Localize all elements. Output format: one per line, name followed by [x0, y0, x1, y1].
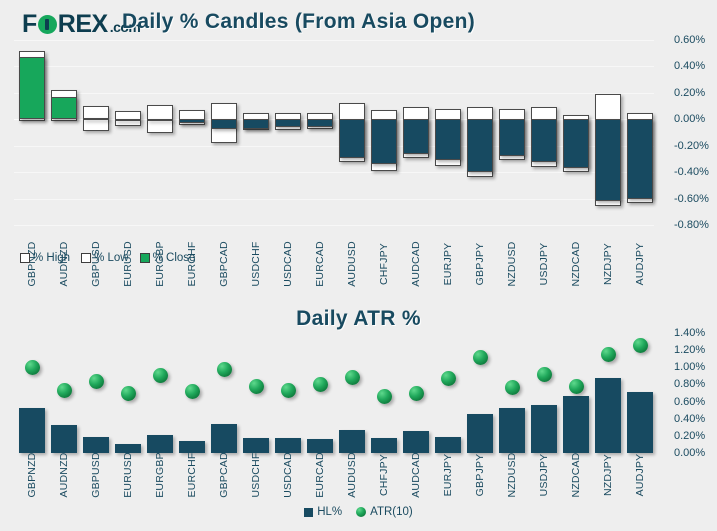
- candle-close-body: [307, 119, 333, 127]
- candles-y-tick-label: 0.20%: [674, 87, 717, 99]
- atr-x-tick-label: EURCAD: [314, 445, 326, 505]
- atr-x-tick-label: NZDCAD: [570, 445, 582, 505]
- candle-column: [563, 40, 589, 225]
- candle-close-body: [147, 119, 173, 121]
- legend-item: ATR(10): [356, 506, 413, 518]
- atr-x-tick-label: GBPJPY: [474, 445, 486, 505]
- candle-close-body: [211, 119, 237, 128]
- candle-close-body: [627, 119, 653, 198]
- candle-column: [595, 40, 621, 225]
- candles-y-tick-label: 0.40%: [674, 60, 717, 72]
- candles-y-tick-label: 0.60%: [674, 34, 717, 46]
- candles-gridline: [14, 66, 654, 67]
- candles-y-tick-label: -0.40%: [674, 166, 717, 178]
- atr-marker-dot: [633, 338, 648, 353]
- candles-gridline: [14, 172, 654, 173]
- legend-label: % Low: [94, 252, 129, 264]
- atr-marker-dot: [473, 350, 488, 365]
- candle-close-body: [83, 118, 109, 120]
- candle-close-body: [339, 119, 365, 157]
- candles-x-tick-label: EURJPY: [442, 234, 454, 294]
- candle-column: [275, 40, 301, 225]
- candles-x-tick-label: EURGBP: [154, 234, 166, 294]
- candle-column: [147, 40, 173, 225]
- candles-x-tick-label: USDCHF: [250, 234, 262, 294]
- candle-close-body: [243, 119, 269, 128]
- candles-y-tick-label: -0.20%: [674, 140, 717, 152]
- candles-x-tick-label: AUDJPY: [634, 234, 646, 294]
- atr-y-tick-label: 1.20%: [674, 344, 717, 356]
- candle-close-body: [179, 119, 205, 123]
- candle-close-body: [115, 119, 141, 121]
- candles-x-tick-label: GBPCAD: [218, 234, 230, 294]
- atr-y-tick-label: 0.80%: [674, 378, 717, 390]
- candles-chart-panel: 0.60%0.40%0.20%0.00%-0.20%-0.40%-0.60%-0…: [0, 40, 717, 295]
- candles-plot-area: 0.60%0.40%0.20%0.00%-0.20%-0.40%-0.60%-0…: [14, 40, 654, 225]
- atr-marker-dot: [121, 386, 136, 401]
- candle-column: [435, 40, 461, 225]
- atr-marker-dot: [409, 386, 424, 401]
- candles-chart-title: Daily % Candles (From Asia Open): [0, 10, 657, 34]
- atr-y-tick-label: 0.20%: [674, 430, 717, 442]
- legend-swatch-icon: [140, 253, 150, 263]
- atr-marker-dot: [345, 370, 360, 385]
- atr-legend: HL%ATR(10): [0, 506, 717, 518]
- legend-label: ATR(10): [370, 506, 413, 518]
- atr-chart-panel: 1.40%1.20%1.00%0.80%0.60%0.40%0.20%0.00%…: [0, 333, 717, 531]
- candles-x-tick-label: AUDNZD: [58, 234, 70, 294]
- atr-x-tick-label: NZDUSD: [506, 445, 518, 505]
- atr-x-tick-label: USDJPY: [538, 445, 550, 505]
- atr-x-tick-label: EURCHF: [186, 445, 198, 505]
- candles-x-tick-label: GBPUSD: [90, 234, 102, 294]
- candle-close-body: [51, 97, 77, 119]
- atr-marker-dot: [89, 374, 104, 389]
- atr-x-tick-label: AUDUSD: [346, 445, 358, 505]
- atr-x-tick-label: EURUSD: [122, 445, 134, 505]
- candles-x-tick-label: AUDUSD: [346, 234, 358, 294]
- candle-column: [627, 40, 653, 225]
- candles-zero-line: [14, 119, 654, 120]
- candle-close-body: [403, 119, 429, 153]
- candle-close-body: [371, 119, 397, 164]
- atr-marker-dot: [505, 380, 520, 395]
- candle-column: [19, 40, 45, 225]
- atr-x-tick-label: NZDJPY: [602, 445, 614, 505]
- candle-column: [403, 40, 429, 225]
- legend-swatch-icon: [20, 253, 30, 263]
- candle-column: [467, 40, 493, 225]
- atr-hl-bar: [627, 392, 653, 453]
- candle-column: [531, 40, 557, 225]
- atr-marker-dot: [249, 379, 264, 394]
- candle-column: [243, 40, 269, 225]
- legend-item: % Low: [81, 252, 129, 264]
- candles-x-tick-label: NZDUSD: [506, 234, 518, 294]
- candles-x-tick-label: GBPJPY: [474, 234, 486, 294]
- candle-column: [83, 40, 109, 225]
- candles-gridline: [14, 40, 654, 41]
- legend-item: % High: [20, 252, 70, 264]
- candles-x-tick-label: NZDCAD: [570, 234, 582, 294]
- candles-x-tick-label: GBPNZD: [26, 234, 38, 294]
- candles-gridline: [14, 93, 654, 94]
- atr-y-tick-label: 0.40%: [674, 413, 717, 425]
- candle-close-body: [435, 119, 461, 160]
- atr-x-tick-label: AUDCAD: [410, 445, 422, 505]
- candle-column: [51, 40, 77, 225]
- candle-column: [307, 40, 333, 225]
- atr-y-tick-label: 1.40%: [674, 327, 717, 339]
- candle-close-body: [531, 119, 557, 161]
- candles-x-tick-label: EURCHF: [186, 234, 198, 294]
- candles-gridline: [14, 199, 654, 200]
- candles-y-tick-label: 0.00%: [674, 113, 717, 125]
- candle-column: [211, 40, 237, 225]
- legend-label: % Close: [153, 252, 196, 264]
- candles-y-tick-label: -0.60%: [674, 193, 717, 205]
- legend-item: % Close: [140, 252, 196, 264]
- atr-x-tick-label: GBPUSD: [90, 445, 102, 505]
- candles-x-tick-label: EURUSD: [122, 234, 134, 294]
- atr-marker-dot: [313, 377, 328, 392]
- candles-x-tick-label: AUDCAD: [410, 234, 422, 294]
- atr-marker-dot: [185, 384, 200, 399]
- legend-item: HL%: [304, 506, 342, 518]
- atr-hl-bar: [595, 378, 621, 453]
- atr-marker-dot: [25, 360, 40, 375]
- candles-legend: % High% Low% Close: [20, 252, 195, 264]
- atr-marker-dot: [601, 347, 616, 362]
- candles-x-tick-label: NZDJPY: [602, 234, 614, 294]
- atr-x-tick-label: GBPNZD: [26, 445, 38, 505]
- atr-x-tick-label: EURGBP: [154, 445, 166, 505]
- candles-x-tick-label: CHFJPY: [378, 234, 390, 294]
- legend-label: HL%: [317, 506, 342, 518]
- atr-marker-dot: [441, 371, 456, 386]
- atr-x-tick-label: EURJPY: [442, 445, 454, 505]
- atr-marker-dot: [217, 362, 232, 377]
- candle-close-body: [563, 119, 589, 168]
- atr-plot-area: 1.40%1.20%1.00%0.80%0.60%0.40%0.20%0.00%: [14, 333, 654, 453]
- atr-x-tick-label: CHFJPY: [378, 445, 390, 505]
- candle-close-body: [467, 119, 493, 172]
- atr-x-tick-label: GBPCAD: [218, 445, 230, 505]
- atr-x-tick-label: AUDJPY: [634, 445, 646, 505]
- atr-marker-dot: [281, 383, 296, 398]
- candle-column: [499, 40, 525, 225]
- legend-swatch-icon: [81, 253, 91, 263]
- atr-x-tick-label: USDCAD: [282, 445, 294, 505]
- candle-close-body: [19, 57, 45, 119]
- atr-marker-dot: [153, 368, 168, 383]
- candle-close-body: [499, 119, 525, 156]
- candle-column: [179, 40, 205, 225]
- candles-y-tick-label: -0.80%: [674, 219, 717, 231]
- atr-marker-dot: [569, 379, 584, 394]
- atr-marker-dot: [57, 383, 72, 398]
- atr-chart-title: Daily ATR %: [0, 307, 717, 331]
- candle-column: [339, 40, 365, 225]
- candle-column: [115, 40, 141, 225]
- legend-square-icon: [304, 508, 313, 517]
- atr-x-tick-label: USDCHF: [250, 445, 262, 505]
- candles-gridline: [14, 225, 654, 226]
- atr-x-tick-label: AUDNZD: [58, 445, 70, 505]
- legend-sphere-icon: [356, 507, 366, 517]
- atr-marker-dot: [377, 389, 392, 404]
- atr-y-tick-label: 1.00%: [674, 361, 717, 373]
- atr-marker-dot: [537, 367, 552, 382]
- legend-label: % High: [33, 252, 70, 264]
- candles-x-tick-label: USDJPY: [538, 234, 550, 294]
- candles-x-tick-label: USDCAD: [282, 234, 294, 294]
- atr-y-tick-label: 0.00%: [674, 447, 717, 459]
- candle-close-body: [275, 119, 301, 127]
- candles-x-tick-label: EURCAD: [314, 234, 326, 294]
- candle-close-body: [595, 119, 621, 201]
- candles-gridline: [14, 146, 654, 147]
- atr-y-tick-label: 0.60%: [674, 396, 717, 408]
- candle-column: [371, 40, 397, 225]
